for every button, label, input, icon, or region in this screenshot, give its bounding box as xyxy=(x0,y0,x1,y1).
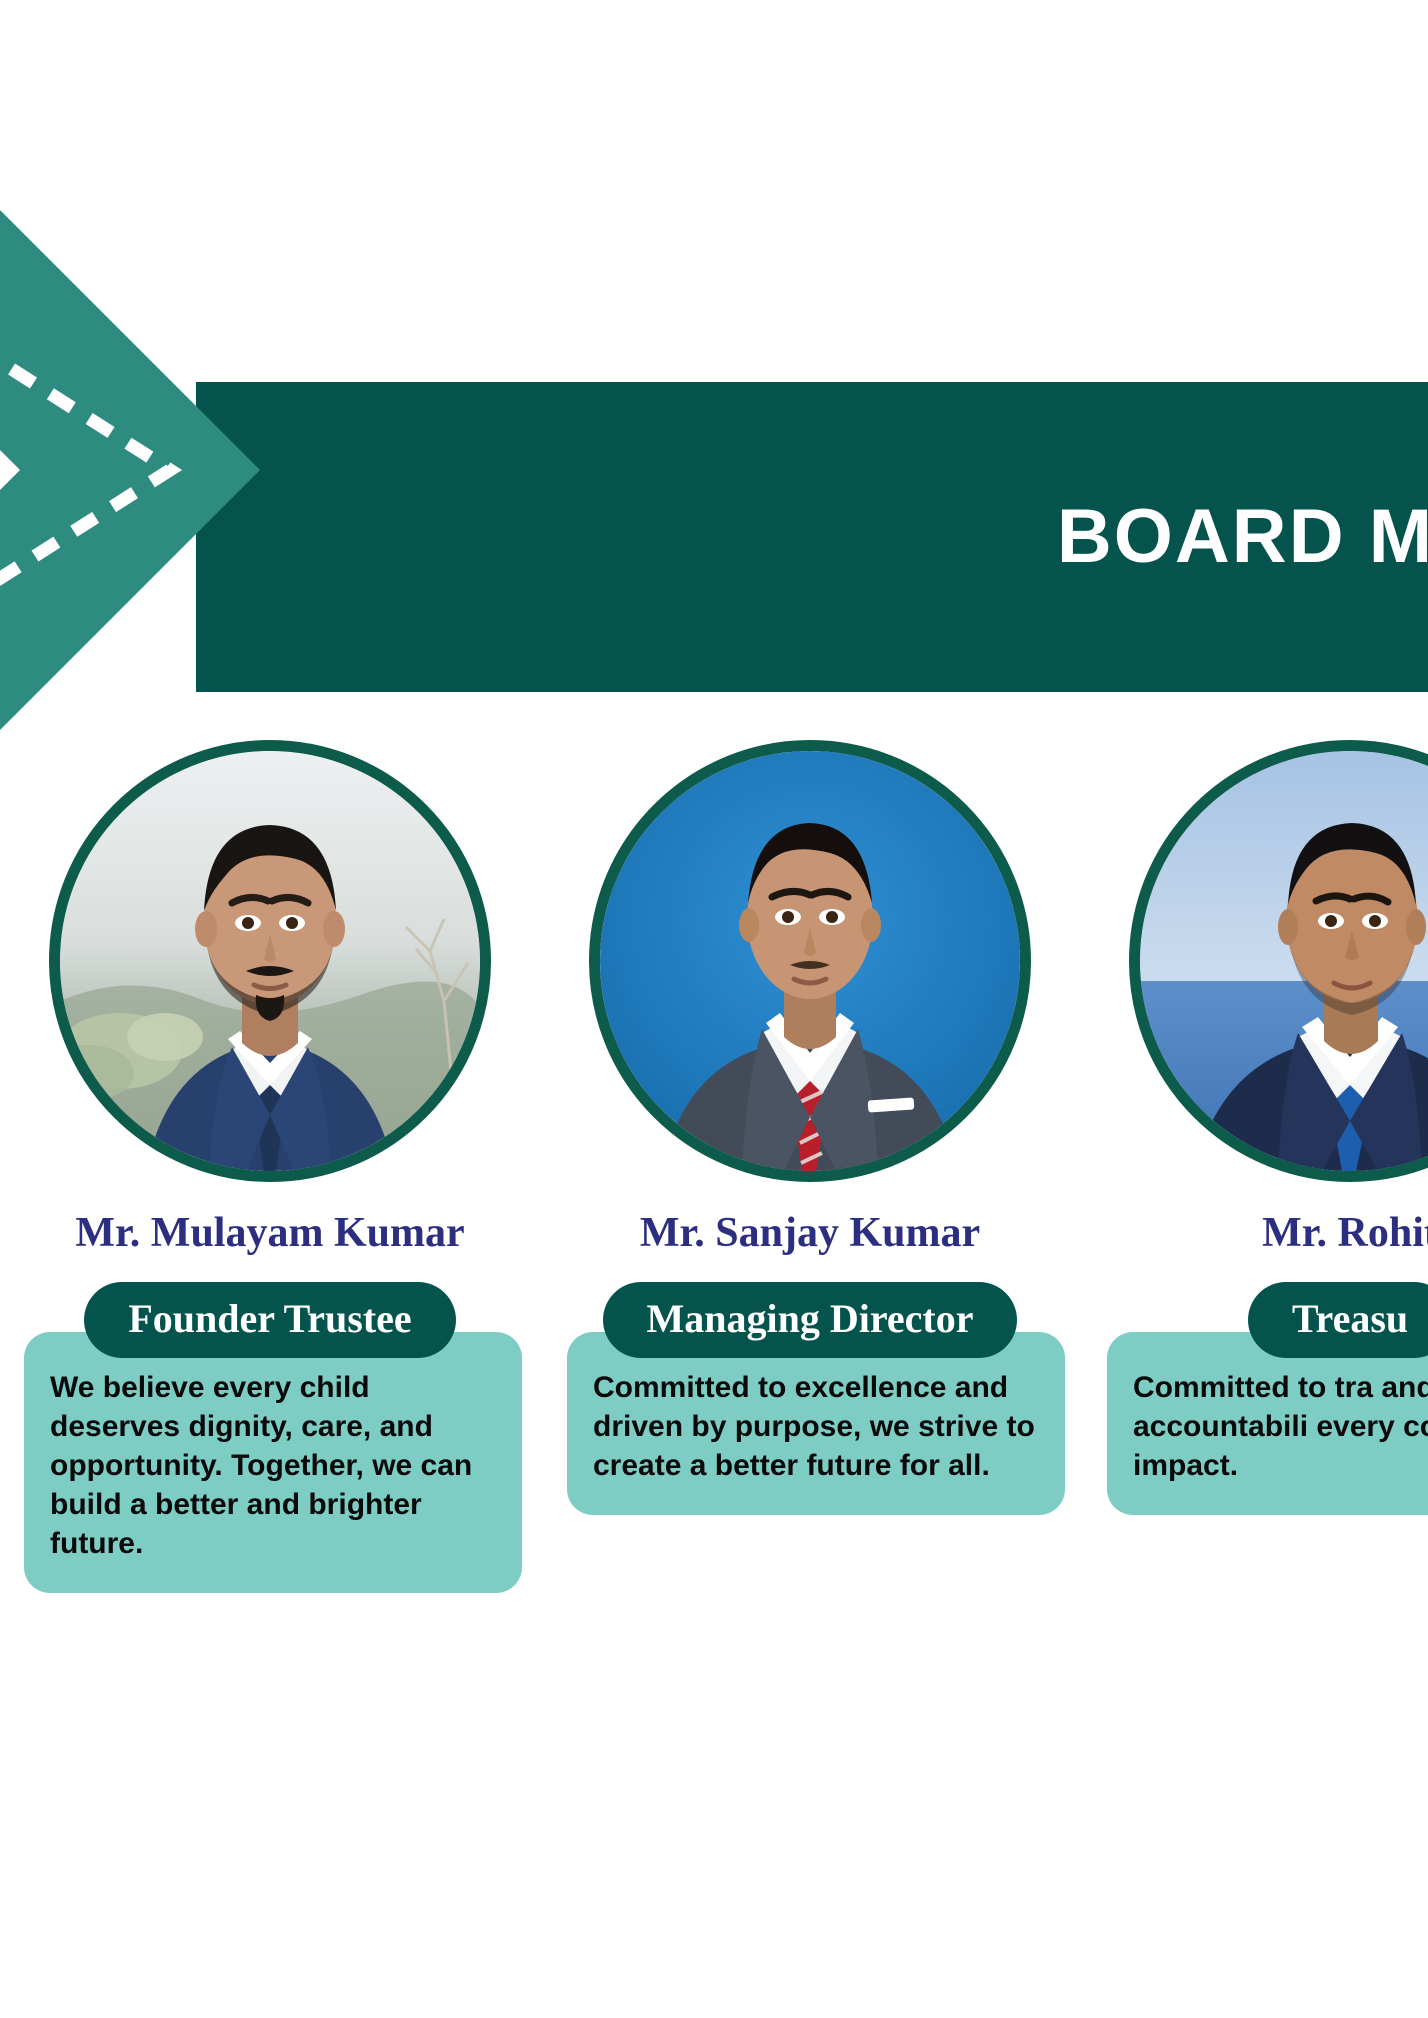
portrait-sanjay-kumar xyxy=(600,751,1020,1171)
status-badge: Managing Director xyxy=(603,1282,1018,1358)
avatar xyxy=(589,740,1031,1182)
header-banner: BOARD M xyxy=(196,382,1428,692)
avatar xyxy=(1129,740,1428,1182)
board-member-card[interactable]: Mr. Mulayam Kumar Founder Trustee We bel… xyxy=(0,740,540,1593)
board-member-card[interactable]: Mr. Sanjay Kumar Managing Director Commi… xyxy=(540,740,1080,1515)
status-badge: Founder Trustee xyxy=(84,1282,455,1358)
status-badge: Treasu xyxy=(1248,1282,1428,1358)
board-member-card[interactable]: Mr. Rohit Treasu Committed to tra and ac… xyxy=(1080,740,1428,1515)
portrait-mulayam-kumar xyxy=(60,751,480,1171)
member-bio: Committed to excellence and driven by pu… xyxy=(567,1332,1065,1515)
member-name: Mr. Mulayam Kumar xyxy=(75,1212,464,1254)
portrait-rohit xyxy=(1140,751,1428,1171)
board-members-row: Mr. Mulayam Kumar Founder Trustee We bel… xyxy=(0,740,1428,1670)
member-bio: We believe every child deserves dignity,… xyxy=(24,1332,522,1593)
member-name: Mr. Rohit xyxy=(1262,1212,1428,1254)
member-name: Mr. Sanjay Kumar xyxy=(640,1212,980,1254)
member-bio: Committed to tra and accountabili every … xyxy=(1107,1332,1428,1515)
page-title: BOARD M xyxy=(1057,499,1428,575)
avatar xyxy=(49,740,491,1182)
